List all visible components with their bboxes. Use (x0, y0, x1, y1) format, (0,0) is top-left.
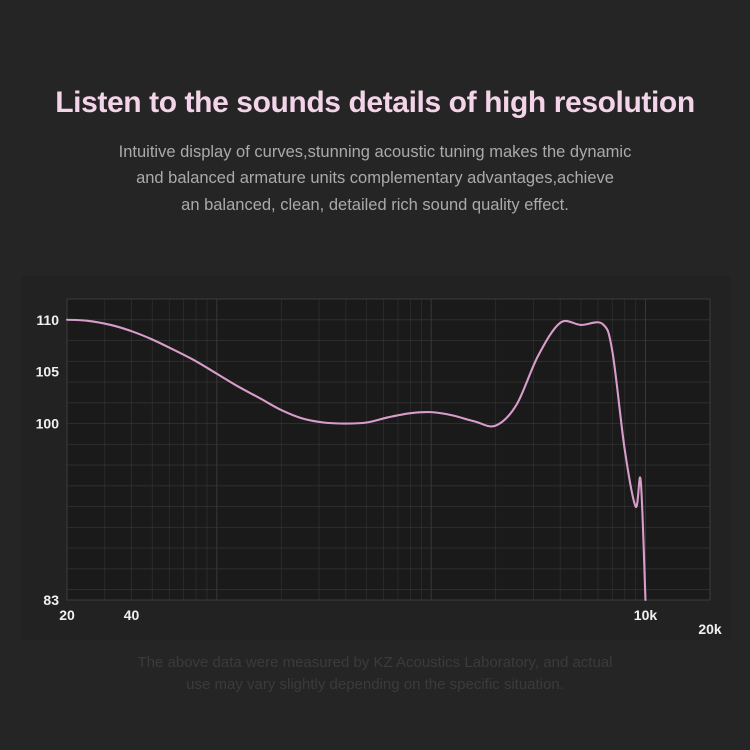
x-tick-label: 10k (634, 607, 658, 623)
frequency-response-chart: 11010510083 204010k20k (22, 276, 730, 640)
disclaimer-line-2: use may vary slightly depending on the s… (0, 674, 750, 696)
x-tick-label: 20 (59, 607, 75, 623)
plot-area (67, 299, 710, 600)
subtitle-line-2: and balanced armature units complementar… (35, 165, 715, 192)
frequency-response-chart-panel: 11010510083 204010k20k (22, 276, 730, 640)
page-header: Listen to the sounds details of high res… (0, 0, 750, 219)
x-tick-label: 40 (124, 607, 140, 623)
product-feature-page: Listen to the sounds details of high res… (0, 0, 750, 750)
subtitle-line-3: an balanced, clean, detailed rich sound … (35, 192, 715, 219)
page-title: Listen to the sounds details of high res… (0, 86, 750, 121)
disclaimer-line-1: The above data were measured by KZ Acous… (0, 652, 750, 674)
y-tick-label: 83 (43, 592, 59, 608)
chart-disclaimer: The above data were measured by KZ Acous… (0, 652, 750, 696)
x-tick-label: 20k (698, 621, 722, 637)
page-subtitle: Intuitive display of curves,stunning aco… (35, 139, 715, 219)
y-tick-label: 105 (36, 364, 60, 380)
y-tick-label: 100 (36, 416, 60, 432)
subtitle-line-1: Intuitive display of curves,stunning aco… (35, 139, 715, 166)
y-tick-label: 110 (36, 312, 59, 328)
